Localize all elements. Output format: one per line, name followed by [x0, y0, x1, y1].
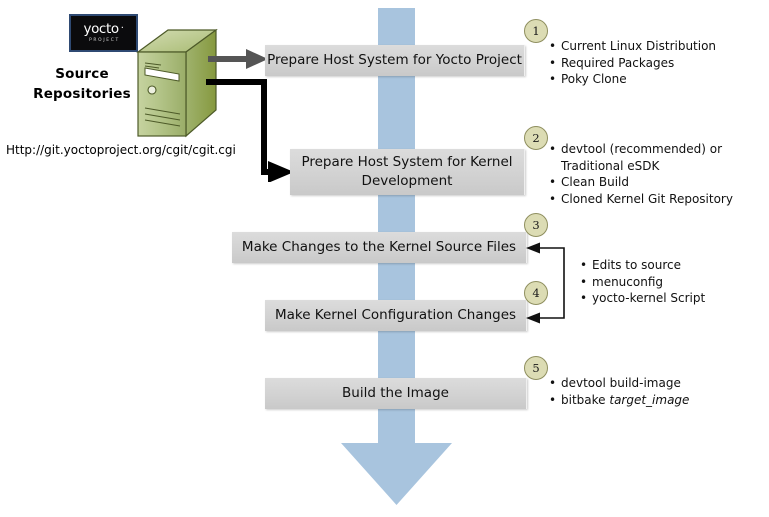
step-number-1-text: 1 — [532, 24, 539, 38]
bullet-item: devtool build-image — [549, 375, 764, 392]
process-box-step3-label: Make Changes to the Kernel Source Files — [242, 238, 516, 257]
step-number-2-text: 2 — [532, 131, 539, 145]
source-label-line1: Source — [16, 64, 148, 84]
process-box-step2[interactable]: Prepare Host System for Kernel Developme… — [290, 149, 525, 195]
step-number-5: 5 — [524, 356, 548, 380]
yocto-project-logo: yocto· PROJECT — [69, 14, 138, 52]
bullet-item: Required Packages — [549, 55, 764, 72]
bullet-item-line2: Traditional eSDK — [561, 158, 764, 175]
bullet-item-emphasis: target_image — [609, 393, 689, 407]
logo-wordmark: yocto· — [83, 23, 123, 37]
bullet-item: menuconfig — [580, 274, 760, 291]
process-box-step2-label: Prepare Host System for Kernel Developme… — [290, 153, 524, 191]
bullet-item: Poky Clone — [549, 71, 764, 88]
step-number-2: 2 — [524, 126, 548, 150]
step-number-3-text: 3 — [532, 218, 539, 232]
logo-subtitle: PROJECT — [89, 39, 120, 43]
step-number-1: 1 — [524, 19, 548, 43]
connector-server-to-step2 — [206, 78, 296, 182]
bullet-item: bitbake target_image — [549, 392, 764, 409]
bullet-item: devtool (recommended) orTraditional eSDK — [549, 141, 764, 174]
process-box-step4-label: Make Kernel Configuration Changes — [275, 306, 516, 325]
logo-dot: · — [121, 23, 124, 34]
connector-server-to-step1 — [208, 46, 270, 72]
connector-bracket-step3-step4 — [524, 240, 572, 326]
source-repository-url: Http://git.yoctoproject.org/cgit/cgit.cg… — [6, 143, 236, 157]
bullet-item-prefix: bitbake — [561, 393, 609, 407]
bullet-item: Current Linux Distribution — [549, 38, 764, 55]
bullet-list-step1: Current Linux Distribution Required Pack… — [549, 38, 764, 88]
bullet-list-step5: devtool build-image bitbake target_image — [549, 375, 764, 408]
bullet-item: Edits to source — [580, 257, 760, 274]
process-box-step1-label: Prepare Host System for Yocto Project — [267, 51, 522, 70]
step-number-3: 3 — [524, 213, 548, 237]
bullet-item-line1: devtool (recommended) or — [561, 142, 722, 156]
process-box-step3[interactable]: Make Changes to the Kernel Source Files — [232, 232, 527, 263]
bullet-list-step3-step4: Edits to source menuconfig yocto-kernel … — [580, 257, 760, 307]
process-box-step5-label: Build the Image — [342, 384, 449, 403]
source-label-line2: Repositories — [16, 84, 148, 104]
bullet-item: yocto-kernel Script — [580, 290, 760, 307]
bullet-item: Cloned Kernel Git Repository — [549, 191, 764, 208]
step-number-5-text: 5 — [532, 361, 539, 375]
process-box-step4[interactable]: Make Kernel Configuration Changes — [265, 300, 527, 331]
process-box-step1[interactable]: Prepare Host System for Yocto Project — [265, 45, 525, 76]
bullet-item: Clean Build — [549, 174, 764, 191]
bullet-list-step2: devtool (recommended) orTraditional eSDK… — [549, 141, 764, 207]
source-repositories-label: Source Repositories — [16, 64, 148, 104]
process-box-step5[interactable]: Build the Image — [265, 378, 527, 409]
diagram-canvas: yocto· PROJECT Source Repositories Http:… — [0, 0, 769, 517]
